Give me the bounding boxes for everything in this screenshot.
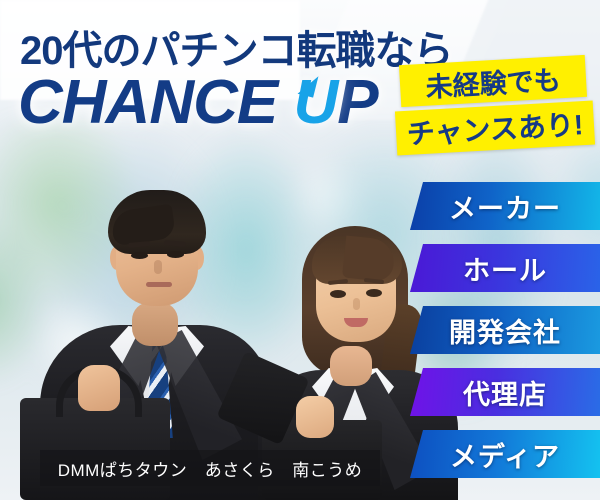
businessman-eye-right (167, 251, 184, 258)
headline-text: 20代のパチンコ転職なら (20, 29, 453, 73)
badge-label-1: 未経験でも (425, 58, 562, 104)
category-label-5: メディア (450, 435, 560, 474)
businesswoman-neck (330, 346, 372, 386)
category-label-2: ホール (463, 249, 547, 288)
category-button-development-company[interactable]: 開発会社 (410, 306, 600, 354)
credit-strip: DMMぱちタウン あさくら 南こうめ (40, 450, 380, 486)
category-button-hall[interactable]: ホール (410, 244, 600, 292)
businessman-hand (78, 365, 120, 411)
category-button-media[interactable]: メディア (410, 430, 600, 478)
businessman-nose (154, 260, 162, 274)
businessman-neck (132, 302, 178, 346)
category-button-maker[interactable]: メーカー (410, 182, 600, 230)
category-label-4: 代理店 (463, 373, 547, 412)
recruitment-banner[interactable]: 20代のパチンコ転職なら CHANCE UP 未経験でも チャンスあり! メーカ… (0, 0, 600, 500)
logo-letter-p: P (337, 68, 377, 137)
businesswoman-nose (353, 298, 360, 310)
brand-logo: CHANCE UP (18, 72, 378, 134)
badge-label-2: チャンスあり! (406, 103, 584, 153)
businessman-mouth (146, 282, 172, 287)
businessman-eye-left (131, 252, 148, 259)
category-label-3: 開発会社 (449, 311, 561, 350)
businesswoman-eye-left (330, 290, 346, 298)
logo-word-chance: CHANCE (18, 68, 277, 137)
category-button-agency[interactable]: 代理店 (410, 368, 600, 416)
category-label-1: メーカー (449, 187, 561, 226)
businesswoman-hand (296, 396, 334, 438)
credit-text: DMMぱちタウン あさくら 南こうめ (58, 456, 363, 481)
businesswoman-eye-right (366, 289, 382, 297)
